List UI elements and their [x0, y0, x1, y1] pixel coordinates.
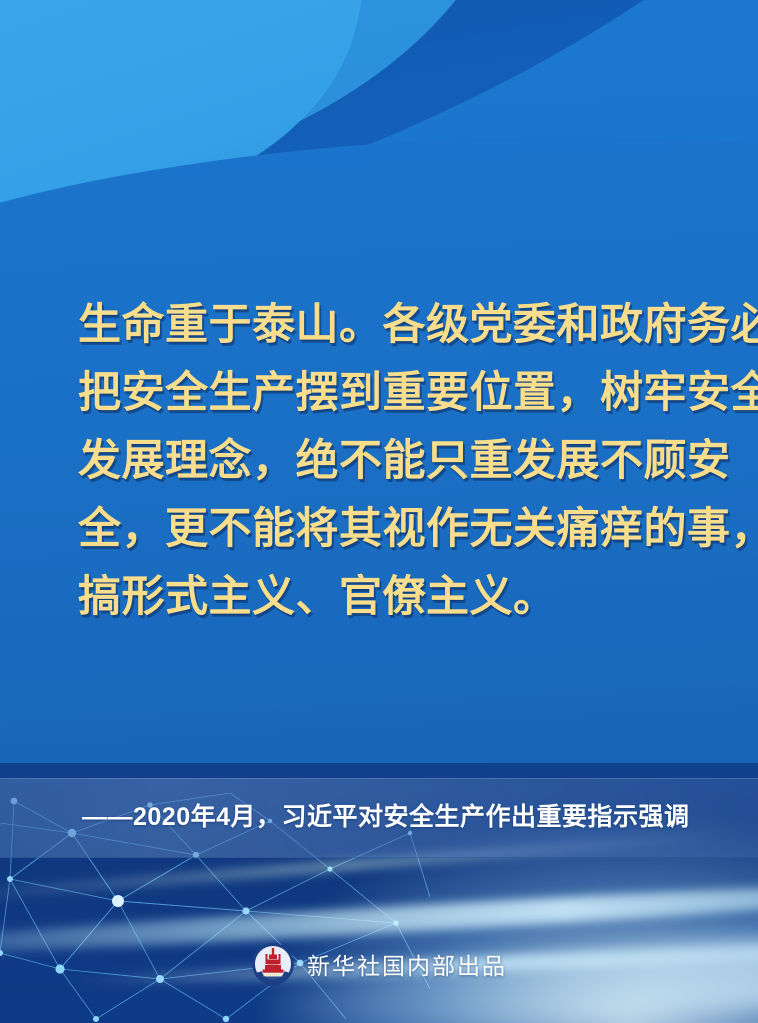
footer: XINHUA 新华社国内部出品 [0, 938, 758, 990]
background-band-top-dark [0, 0, 758, 280]
quote-poster: 生命重于泰山。各级党委和政府务必 把安全生产摆到重要位置，树牢安全 发展理念，绝… [0, 0, 758, 1023]
quote-line: 全，更不能将其视作无关痛痒的事， [78, 496, 690, 564]
svg-text:XINHUA: XINHUA [263, 973, 284, 978]
quote-line: 发展理念，绝不能只重发展不顾安 [78, 428, 690, 496]
attribution-text: ——2020年4月，习近平对安全生产作出重要指示强调 [82, 801, 690, 833]
quote-text-block: 生命重于泰山。各级党委和政府务必 把安全生产摆到重要位置，树牢安全 发展理念，绝… [78, 292, 690, 632]
quote-line: 生命重于泰山。各级党委和政府务必 [78, 292, 690, 360]
quote-line: 把安全生产摆到重要位置，树牢安全 [78, 360, 690, 428]
footer-label: 新华社国内部出品 [307, 947, 507, 981]
quote-line: 搞形式主义、官僚主义。 [78, 564, 690, 632]
xinhua-logo-icon: XINHUA [251, 942, 295, 986]
